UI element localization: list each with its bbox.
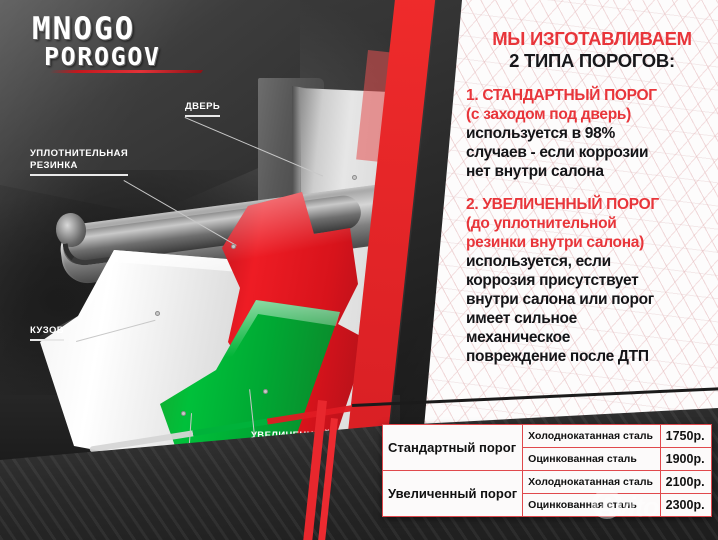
section-standard-title: 1. СТАНДАРТНЫЙ ПОРОГ — [466, 86, 718, 105]
price-table: Стандартный порог Холоднокатанная сталь … — [382, 424, 712, 517]
leader-dot-door — [352, 175, 357, 180]
callout-door: ДВЕРЬ — [185, 101, 220, 117]
section-enlarged-body-1: используется, если — [466, 252, 718, 271]
promo-image: ДВЕРЬ УПЛОТНИТЕЛЬНАЯ РЕЗИНКА КУЗОВ СТАНД… — [0, 0, 718, 540]
section-enlarged-body-2: коррозия присутствует — [466, 271, 718, 290]
callout-seal-label-2: РЕЗИНКА — [30, 160, 78, 171]
brand-logo: MNOGO POROGOV — [32, 14, 208, 70]
callout-seal-label-1: УПЛОТНИТЕЛЬНАЯ — [30, 148, 128, 159]
price-row-name-enlarged: Увеличенный порог — [383, 471, 523, 517]
section-enlarged: 2. УВЕЛИЧЕННЫЙ ПОРОГ (до уплотнительной … — [466, 195, 718, 366]
info-panel-content: МЫ ИЗГОТАВЛИВАЕМ 2 ТИПА ПОРОГОВ: 1. СТАН… — [466, 0, 718, 366]
price-value-4: 2300р. — [660, 494, 711, 517]
price-material-2: Оцинкованная сталь — [523, 448, 660, 471]
logo-line-1: MNOGO — [32, 14, 208, 44]
price-value-1: 1750р. — [660, 425, 711, 448]
section-standard: 1. СТАНДАРТНЫЙ ПОРОГ (с заходом под двер… — [466, 86, 718, 181]
section-enlarged-subtitle-2: резинки внутри салона) — [466, 233, 718, 252]
leader-dot-enlarged — [263, 389, 268, 394]
logo-red-underline — [49, 70, 203, 73]
table-row: Стандартный порог Холоднокатанная сталь … — [383, 425, 712, 448]
callout-body: КУЗОВ — [30, 325, 64, 341]
section-standard-subtitle: (с заходом под дверь) — [466, 105, 718, 124]
section-standard-body-2: случаев - если коррозии — [466, 143, 718, 162]
section-enlarged-body-5: механическое — [466, 328, 718, 347]
callout-body-label: КУЗОВ — [30, 325, 64, 336]
section-enlarged-body-3: внутри салона или порог — [466, 290, 718, 309]
price-value-3: 2100р. — [660, 471, 711, 494]
callout-seal: УПЛОТНИТЕЛЬНАЯ РЕЗИНКА — [30, 148, 128, 176]
price-material-1: Холоднокатанная сталь — [523, 425, 660, 448]
callout-body-underline — [30, 339, 64, 341]
section-enlarged-body-6: повреждение после ДТП — [466, 347, 718, 366]
price-row-name-standard: Стандартный порог — [383, 425, 523, 471]
leader-dot-seal — [231, 244, 236, 249]
price-value-2: 1900р. — [660, 448, 711, 471]
section-enlarged-subtitle-1: (до уплотнительной — [466, 214, 718, 233]
table-row: Увеличенный порог Холоднокатанная сталь … — [383, 471, 712, 494]
section-enlarged-body-4: имеет сильное — [466, 309, 718, 328]
leader-dot-standard — [181, 411, 186, 416]
panel-heading-line2: 2 ТИПА ПОРОГОВ: — [466, 50, 718, 72]
logo-line-2: POROGOV — [44, 44, 208, 70]
callout-door-label: ДВЕРЬ — [185, 101, 220, 112]
callout-door-underline — [185, 115, 220, 117]
price-material-3: Холоднокатанная сталь — [523, 471, 660, 494]
section-standard-body-3: нет внутри салона — [466, 162, 718, 181]
panel-heading-line1: МЫ ИЗГОТАВЛИВАЕМ — [466, 28, 718, 50]
section-enlarged-title: 2. УВЕЛИЧЕННЫЙ ПОРОГ — [466, 195, 718, 214]
watermark-circle-icon — [592, 489, 622, 519]
section-standard-body-1: используется в 98% — [466, 124, 718, 143]
leader-dot-body — [155, 311, 160, 316]
callout-seal-underline — [30, 174, 128, 176]
